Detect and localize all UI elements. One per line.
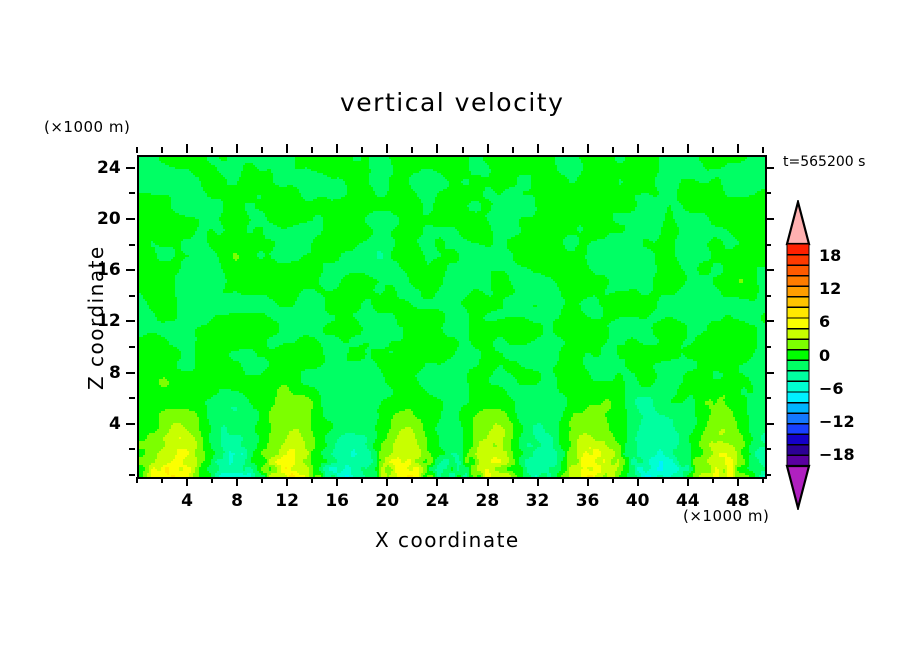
- colorbar-tick-label: 12: [819, 279, 841, 298]
- colorbar-tick-label: 18: [819, 246, 841, 265]
- colorbar-tick-labels: 181260−6−12−18: [0, 0, 904, 654]
- colorbar-tick-label: −18: [819, 445, 855, 464]
- figure-canvas: vertical velocity (×1000 m) t=565200 s Z…: [0, 0, 904, 654]
- colorbar-tick-label: −12: [819, 412, 855, 431]
- colorbar-tick-label: 6: [819, 312, 830, 331]
- colorbar-tick-label: 0: [819, 346, 830, 365]
- colorbar-tick-label: −6: [819, 379, 844, 398]
